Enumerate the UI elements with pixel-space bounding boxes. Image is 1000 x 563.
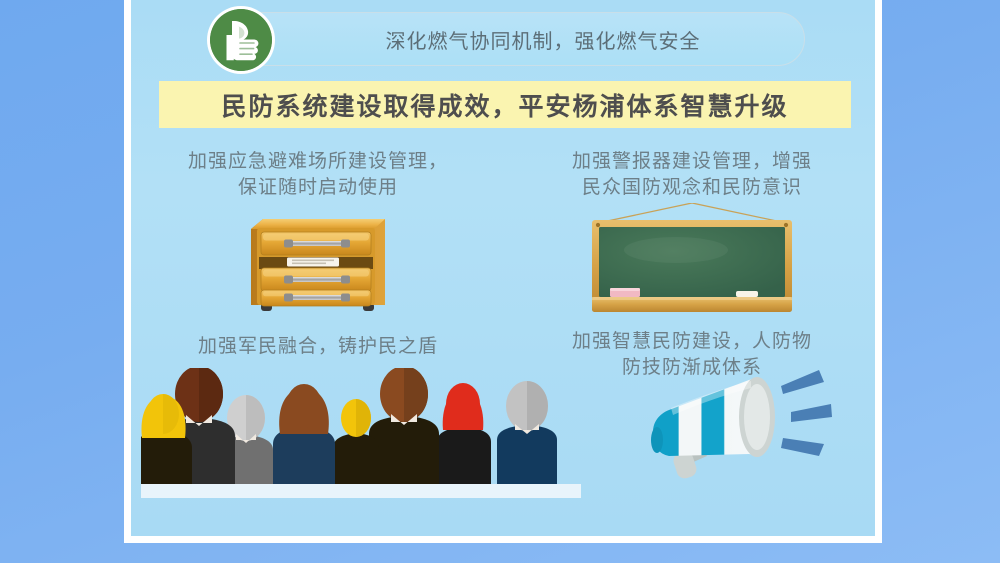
banner-title: 民防系统建设取得成效，平安杨浦体系智慧升级 bbox=[221, 87, 788, 123]
blackboard-icon bbox=[580, 203, 804, 319]
caption-left-top: 加强应急避难场所建设管理， 保证随时启动使用 bbox=[153, 149, 483, 201]
caption-left-bottom: 加强军民融合，铸护民之盾 bbox=[153, 334, 483, 360]
panel-content: 深化燃气协同机制，强化燃气安全 民防系统建设取得成效，平安杨浦体系智慧升级 bbox=[131, 0, 875, 536]
header-speech-bubble: 深化燃气协同机制，强化燃气安全 bbox=[235, 12, 805, 66]
column-left: 加强应急避难场所建设管理， 保证随时启动使用 bbox=[153, 149, 483, 317]
panel-white-frame: 深化燃气协同机制，强化燃气安全 民防系统建设取得成效，平安杨浦体系智慧升级 bbox=[124, 0, 882, 543]
thumbs-up-icon bbox=[210, 9, 272, 71]
yellow-banner: 民防系统建设取得成效，平安杨浦体系智慧升级 bbox=[159, 81, 851, 128]
filing-cabinet-icon bbox=[243, 211, 393, 315]
megaphone-icon bbox=[631, 360, 846, 488]
crowd-icon bbox=[141, 368, 581, 498]
column-right: 加强警报器建设管理，增强 民众国防观念和民防意识 bbox=[527, 149, 857, 317]
artwork-slot-right bbox=[527, 209, 857, 317]
infographic-slide: 深化燃气协同机制，强化燃气安全 民防系统建设取得成效，平安杨浦体系智慧升级 bbox=[0, 0, 1000, 563]
header-bubble-text: 深化燃气协同机制，强化燃气安全 bbox=[386, 25, 701, 54]
artwork-slot-left bbox=[153, 209, 483, 317]
header-row: 深化燃气协同机制，强化燃气安全 bbox=[131, 3, 875, 69]
caption-left-bottom-wrap: 加强军民融合，铸护民之盾 bbox=[153, 334, 483, 360]
caption-right-top: 加强警报器建设管理，增强 民众国防观念和民防意识 bbox=[527, 149, 857, 201]
